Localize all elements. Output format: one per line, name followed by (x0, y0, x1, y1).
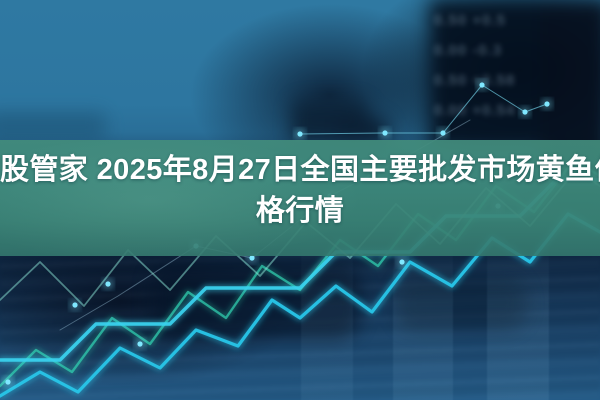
headline-line-1: 股管家 2025年8月27日全国主要批发市场黄鱼价 (0, 150, 600, 191)
headline-line-2: 格行情 (0, 191, 600, 232)
chart-data-point (5, 379, 10, 384)
chart-line-dotted-markers-upper (300, 85, 547, 134)
chart-data-point (382, 130, 387, 135)
news-banner: 0.50 +0.5 0.00 -0.3 0.50 +0.58 0.00 +0.5… (0, 0, 600, 400)
chart-data-point (72, 302, 77, 307)
chart-data-point (249, 255, 254, 260)
chart-data-point (399, 259, 404, 264)
chart-data-point (544, 101, 549, 106)
chart-data-point (297, 131, 302, 136)
headline: 股管家 2025年8月27日全国主要批发市场黄鱼价 格行情 (0, 150, 600, 232)
chart-data-point (137, 341, 142, 346)
chart-data-point (105, 281, 110, 286)
chart-data-point (440, 130, 445, 135)
chart-data-point (522, 109, 527, 114)
chart-data-point (479, 82, 484, 87)
